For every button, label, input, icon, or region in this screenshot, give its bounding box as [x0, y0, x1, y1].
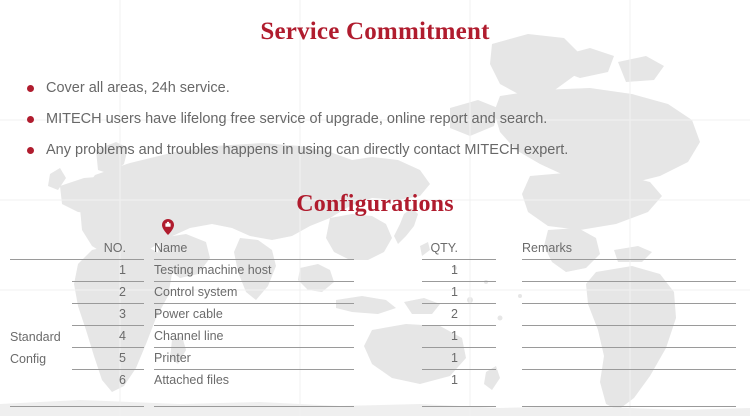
column-header-group: [0, 238, 72, 260]
cell-name: Testing machine host: [144, 260, 399, 282]
cell-no-value: 3: [72, 304, 144, 326]
column-header-remarks-label: Remarks: [504, 238, 750, 260]
table-row: 2 Control system 1: [0, 282, 750, 304]
cell-qty-value: 1: [399, 282, 504, 304]
cell-name-value: Printer: [144, 348, 399, 370]
table-row: 5 Printer 1: [0, 348, 750, 370]
column-header-name: Name: [144, 238, 399, 260]
cell-remarks-value: [504, 304, 750, 326]
map-pin-icon: [162, 219, 174, 235]
table-bottom-rule-row: [0, 392, 750, 414]
cell-name-value: Control system: [144, 282, 399, 304]
cell-no: 2: [72, 282, 144, 304]
configurations-title: Configurations: [0, 190, 750, 219]
group-label-line1: Standard: [10, 326, 72, 348]
cell-no-value: 2: [72, 282, 144, 304]
cell-name: Channel line: [144, 326, 399, 348]
column-header-name-label: Name: [144, 238, 399, 260]
cell-no: 4: [72, 326, 144, 348]
column-header-qty: QTY.: [399, 238, 504, 260]
cell-qty: 1: [399, 348, 504, 370]
cell-qty: 2: [399, 304, 504, 326]
cell-name: Control system: [144, 282, 399, 304]
bottom-rule-remarks: [504, 392, 750, 414]
bullet-dot-icon: [27, 147, 34, 154]
list-item: MITECH users have lifelong free service …: [24, 104, 724, 135]
cell-remarks: [504, 260, 750, 282]
column-header-no: NO.: [72, 238, 144, 260]
cell-qty-value: 1: [399, 326, 504, 348]
service-commitment-list: Cover all areas, 24h service. MITECH use…: [24, 73, 724, 166]
cell-qty-value: 1: [399, 348, 504, 370]
cell-qty: 1: [399, 260, 504, 282]
cell-no-value: 5: [72, 348, 144, 370]
group-label-line2: Config: [10, 348, 72, 370]
cell-remarks-value: [504, 260, 750, 282]
cell-no: 3: [72, 304, 144, 326]
list-item-label: Any problems and troubles happens in usi…: [46, 142, 568, 158]
cell-name: Attached files: [144, 370, 399, 392]
bullet-dot-icon: [27, 85, 34, 92]
cell-name-value: Attached files: [144, 370, 399, 392]
bottom-rule-no: [72, 392, 144, 414]
table-row: 3 Power cable 2: [0, 304, 750, 326]
bottom-rule-qty: [399, 392, 504, 414]
table-row: Standard Config 1 Testing machine host 1: [0, 260, 750, 282]
cell-remarks: [504, 326, 750, 348]
column-header-qty-label: QTY.: [399, 238, 504, 260]
cell-qty-value: 1: [399, 370, 504, 392]
cell-remarks-value: [504, 348, 750, 370]
cell-qty-value: 2: [399, 304, 504, 326]
bottom-rule-name: [144, 392, 399, 414]
list-item: Any problems and troubles happens in usi…: [24, 135, 724, 166]
cell-name-value: Channel line: [144, 326, 399, 348]
service-commitment-title: Service Commitment: [0, 17, 750, 47]
cell-no: 5: [72, 348, 144, 370]
cell-no-value: 1: [72, 260, 144, 282]
cell-no-value: 6: [72, 370, 144, 392]
cell-qty: 1: [399, 370, 504, 392]
cell-remarks: [504, 304, 750, 326]
list-item: Cover all areas, 24h service.: [24, 73, 724, 104]
cell-qty: 1: [399, 282, 504, 304]
cell-remarks-value: [504, 282, 750, 304]
configurations-table: NO. Name QTY. Remarks Standard C: [0, 238, 750, 414]
table-row: 4 Channel line 1: [0, 326, 750, 348]
list-item-label: Cover all areas, 24h service.: [46, 80, 230, 96]
column-header-group-label: [0, 238, 72, 260]
cell-name-value: Power cable: [144, 304, 399, 326]
bottom-rule-group: [0, 392, 72, 414]
cell-no: 1: [72, 260, 144, 282]
cell-name-value: Testing machine host: [144, 260, 399, 282]
cell-qty-value: 1: [399, 260, 504, 282]
cell-remarks-value: [504, 370, 750, 392]
cell-remarks-value: [504, 326, 750, 348]
cell-name: Printer: [144, 348, 399, 370]
column-header-remarks: Remarks: [504, 238, 750, 260]
cell-qty: 1: [399, 326, 504, 348]
cell-no: 6: [72, 370, 144, 392]
row-group-standard-config: Standard Config: [0, 260, 72, 392]
list-item-label: MITECH users have lifelong free service …: [46, 111, 547, 127]
cell-name: Power cable: [144, 304, 399, 326]
cell-remarks: [504, 282, 750, 304]
cell-remarks: [504, 370, 750, 392]
bullet-dot-icon: [27, 116, 34, 123]
table-row: 6 Attached files 1: [0, 370, 750, 392]
column-header-no-label: NO.: [72, 238, 144, 260]
cell-no-value: 4: [72, 326, 144, 348]
cell-remarks: [504, 348, 750, 370]
table-header-row: NO. Name QTY. Remarks: [0, 238, 750, 260]
